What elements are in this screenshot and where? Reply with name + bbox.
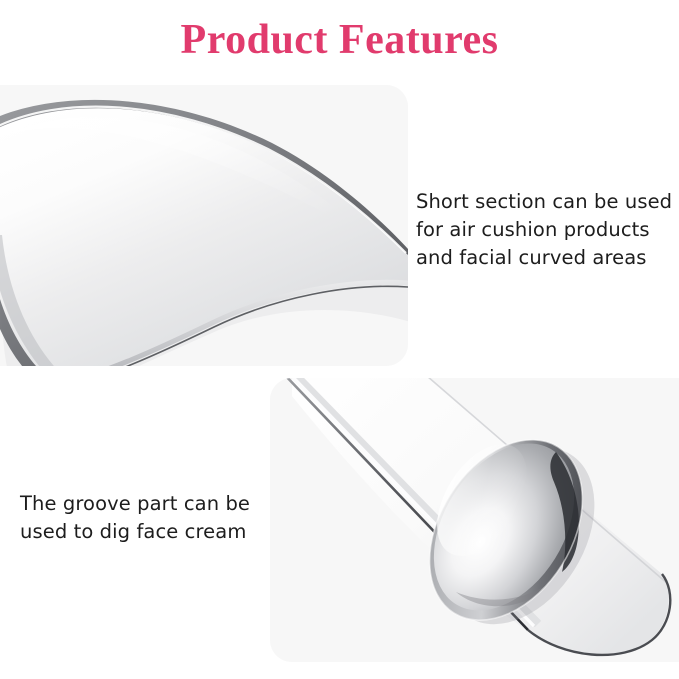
product-features-infographic: Product Features	[0, 0, 679, 679]
bottom-spoon-panel	[270, 378, 679, 662]
spatula-blade-image	[0, 85, 408, 366]
page-title: Product Features	[0, 18, 679, 62]
spatula-scoop-image	[270, 378, 679, 662]
caption-groove-part: The groove part can be used to dig face …	[20, 490, 250, 546]
top-blade-panel	[0, 85, 408, 366]
caption-short-section: Short section can be used for air cushio…	[416, 188, 672, 272]
